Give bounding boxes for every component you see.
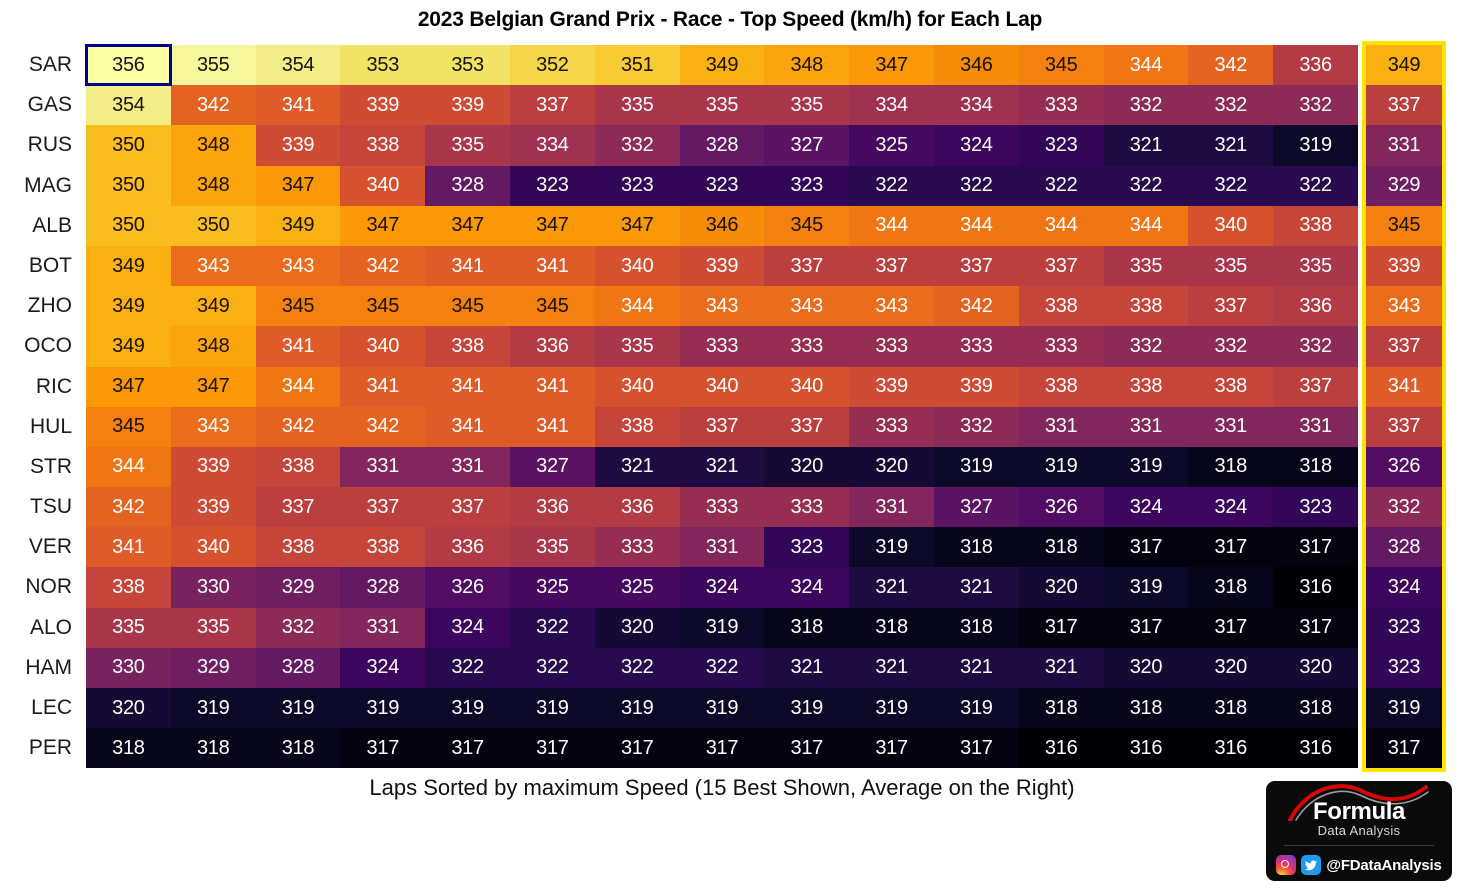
row-label: MAG	[0, 166, 86, 206]
heatmap-cell: 335	[425, 125, 510, 165]
heatmap-cell: 339	[934, 367, 1019, 407]
heatmap-cell: 343	[171, 246, 256, 286]
heatmap-cell: 337	[1019, 246, 1104, 286]
heatmap-cell: 323	[1273, 487, 1358, 527]
heatmap-cell: 344	[1019, 206, 1104, 246]
heatmap-cell: 330	[171, 567, 256, 607]
heatmap-cell: 335	[171, 608, 256, 648]
heatmap-cell: 344	[595, 286, 680, 326]
row-label: VER	[0, 527, 86, 567]
heatmap-cell: 342	[256, 407, 341, 447]
heatmap-cell: 322	[510, 608, 595, 648]
heatmap-cell: 340	[764, 367, 849, 407]
heatmap-cell: 317	[1104, 527, 1189, 567]
heatmap-row: 3473473443413413413403403403393393383383…	[86, 367, 1358, 407]
heatmap-cell: 344	[256, 367, 341, 407]
heatmap-cell: 340	[340, 326, 425, 366]
heatmap-cell: 332	[1104, 326, 1189, 366]
heatmap-cell: 347	[256, 166, 341, 206]
heatmap-cell: 332	[1104, 85, 1189, 125]
heatmap-cell: 344	[1104, 45, 1189, 85]
heatmap-cell: 338	[1019, 367, 1104, 407]
heatmap-row: 3383303293283263253253243243213213203193…	[86, 567, 1358, 607]
heatmap-cell: 318	[171, 728, 256, 768]
heatmap-cell: 324	[934, 125, 1019, 165]
row-label: NOR	[0, 567, 86, 607]
heatmap-cell: 318	[1019, 527, 1104, 567]
heatmap-cell: 331	[1188, 407, 1273, 447]
heatmap-body: SARGASRUSMAGALBBOTZHOOCORICHULSTRTSUVERN…	[0, 45, 1460, 768]
heatmap-cell: 343	[764, 286, 849, 326]
heatmap-cell: 318	[1273, 688, 1358, 728]
heatmap-cell: 352	[510, 45, 595, 85]
heatmap-cell: 339	[171, 447, 256, 487]
heatmap-row: 3503483393383353343323283273253243233213…	[86, 125, 1358, 165]
heatmap-cell: 321	[764, 648, 849, 688]
row-label-axis: SARGASRUSMAGALBBOTZHOOCORICHULSTRTSUVERN…	[0, 45, 86, 768]
heatmap-row: 3453433423423413413383373373333323313313…	[86, 407, 1358, 447]
heatmap-cell: 339	[425, 85, 510, 125]
heatmap-cell: 319	[425, 688, 510, 728]
heatmap-cell: 331	[340, 608, 425, 648]
heatmap-cell: 347	[340, 206, 425, 246]
average-cell: 345	[1366, 206, 1442, 246]
heatmap-cell: 319	[595, 688, 680, 728]
heatmap-cell: 344	[1104, 206, 1189, 246]
heatmap-cell: 341	[425, 246, 510, 286]
heatmap-cell: 318	[934, 527, 1019, 567]
heatmap-cell: 338	[1019, 286, 1104, 326]
heatmap-cell: 340	[680, 367, 765, 407]
average-cell: 323	[1366, 608, 1442, 648]
heatmap-cell: 321	[934, 648, 1019, 688]
heatmap-cell: 342	[1188, 45, 1273, 85]
average-cell: 341	[1366, 367, 1442, 407]
row-label: SAR	[0, 45, 86, 85]
heatmap-cell: 321	[595, 447, 680, 487]
heatmap-cell: 332	[1273, 326, 1358, 366]
heatmap-cell: 317	[340, 728, 425, 768]
heatmap-row: 3423393373373373363363333333313273263243…	[86, 487, 1358, 527]
heatmap-cell: 322	[595, 648, 680, 688]
heatmap-cell: 332	[595, 125, 680, 165]
heatmap-cell: 337	[764, 246, 849, 286]
heatmap-cell: 335	[1188, 246, 1273, 286]
heatmap-cell: 338	[340, 527, 425, 567]
heatmap-cell: 341	[256, 326, 341, 366]
heatmap-cell: 319	[256, 688, 341, 728]
logo-handle: @FDataAnalysis	[1326, 857, 1441, 874]
heatmap-cell: 341	[86, 527, 171, 567]
heatmap-cell: 324	[425, 608, 510, 648]
heatmap-cell: 317	[510, 728, 595, 768]
heatmap-cell: 335	[510, 527, 595, 567]
heatmap-cell: 332	[934, 407, 1019, 447]
average-cell: 329	[1366, 166, 1442, 206]
heatmap-cell: 340	[340, 166, 425, 206]
heatmap-cell: 341	[425, 407, 510, 447]
heatmap-cell: 317	[849, 728, 934, 768]
heatmap-cell: 333	[934, 326, 1019, 366]
heatmap-cell: 321	[680, 447, 765, 487]
x-axis-caption: Laps Sorted by maximum Speed (15 Best Sh…	[86, 775, 1358, 801]
heatmap-cell: 316	[1273, 567, 1358, 607]
heatmap-cell: 348	[171, 125, 256, 165]
heatmap-cell: 331	[849, 487, 934, 527]
brand-logo-card: Formula Data Analysis @FDataAnalysis	[1266, 781, 1452, 881]
row-label: PER	[0, 728, 86, 768]
heatmap-cell: 322	[425, 648, 510, 688]
heatmap-cell: 317	[680, 728, 765, 768]
average-column: 3493373313293453393433373413373263323283…	[1366, 45, 1442, 768]
heatmap-cell: 347	[86, 367, 171, 407]
heatmap-cell: 319	[934, 447, 1019, 487]
heatmap-cell: 322	[510, 648, 595, 688]
heatmap-cell: 331	[340, 447, 425, 487]
heatmap-cell: 337	[425, 487, 510, 527]
heatmap-cell: 337	[849, 246, 934, 286]
heatmap-cell: 338	[340, 125, 425, 165]
heatmap-row: 3413403383383363353333313233193183183173…	[86, 527, 1358, 567]
heatmap-cell: 343	[171, 407, 256, 447]
heatmap-cell: 342	[86, 487, 171, 527]
heatmap-cell: 322	[1188, 166, 1273, 206]
heatmap-cell: 320	[764, 447, 849, 487]
heatmap-cell: 318	[1188, 688, 1273, 728]
logo-divider	[1284, 845, 1434, 846]
heatmap-cell: 322	[1273, 166, 1358, 206]
heatmap-cell: 320	[1019, 567, 1104, 607]
heatmap-row: 3183183183173173173173173173173173163163…	[86, 728, 1358, 768]
heatmap-row: 3563553543533533523513493483473463453443…	[86, 45, 1358, 85]
heatmap-cell: 356	[86, 45, 171, 85]
heatmap-row: 3503503493473473473473463453443443443443…	[86, 206, 1358, 246]
heatmap-cell: 340	[595, 367, 680, 407]
row-label: STR	[0, 447, 86, 487]
heatmap-cell: 349	[680, 45, 765, 85]
heatmap-cell: 337	[764, 407, 849, 447]
heatmap-cell: 349	[86, 246, 171, 286]
heatmap-cell: 333	[680, 487, 765, 527]
heatmap-cell: 340	[171, 527, 256, 567]
heatmap-cell: 343	[256, 246, 341, 286]
heatmap-cell: 333	[595, 527, 680, 567]
heatmap-cell: 333	[764, 487, 849, 527]
heatmap-cell: 335	[86, 608, 171, 648]
heatmap-cell: 317	[1188, 608, 1273, 648]
heatmap-cell: 318	[86, 728, 171, 768]
heatmap-cell: 335	[1104, 246, 1189, 286]
heatmap-cell: 332	[1273, 85, 1358, 125]
heatmap-cell: 324	[340, 648, 425, 688]
average-cell: 331	[1366, 125, 1442, 165]
heatmap-cell: 318	[1188, 567, 1273, 607]
heatmap-cell: 325	[849, 125, 934, 165]
average-cell: 343	[1366, 286, 1442, 326]
heatmap-cell: 318	[1188, 447, 1273, 487]
heatmap-cell: 333	[849, 326, 934, 366]
heatmap-cell: 323	[510, 166, 595, 206]
heatmap-cell: 350	[86, 166, 171, 206]
heatmap-cell: 332	[1188, 85, 1273, 125]
heatmap-cell: 342	[171, 85, 256, 125]
heatmap-cell: 322	[1104, 166, 1189, 206]
heatmap-cell: 321	[1188, 125, 1273, 165]
heatmap-cell: 353	[425, 45, 510, 85]
heatmap-cell: 337	[256, 487, 341, 527]
heatmap-cell: 327	[510, 447, 595, 487]
heatmap-cell: 324	[680, 567, 765, 607]
heatmap-cell: 323	[1019, 125, 1104, 165]
heatmap-cell: 318	[1019, 688, 1104, 728]
heatmap-cell: 335	[680, 85, 765, 125]
heatmap-cell: 349	[86, 286, 171, 326]
heatmap-cell: 337	[934, 246, 1019, 286]
heatmap-row: 3493483413403383363353333333333333333323…	[86, 326, 1358, 366]
logo-top: Formula Data Analysis	[1266, 781, 1452, 847]
heatmap-cell: 316	[1104, 728, 1189, 768]
heatmap-cell: 331	[425, 447, 510, 487]
heatmap-cell: 333	[1019, 85, 1104, 125]
heatmap-cell: 321	[849, 567, 934, 607]
heatmap-cell: 329	[171, 648, 256, 688]
heatmap-matrix: 3563553543533533523513493483473463453443…	[86, 45, 1358, 768]
row-label: TSU	[0, 487, 86, 527]
heatmap-cell: 329	[256, 567, 341, 607]
logo-brand-name: Formula	[1266, 800, 1452, 824]
heatmap-cell: 330	[86, 648, 171, 688]
heatmap-cell: 321	[934, 567, 1019, 607]
heatmap-cell: 347	[849, 45, 934, 85]
instagram-icon[interactable]	[1276, 855, 1296, 875]
average-cell: 328	[1366, 527, 1442, 567]
heatmap-cell: 317	[764, 728, 849, 768]
average-cell: 319	[1366, 688, 1442, 728]
heatmap-cell: 327	[764, 125, 849, 165]
heatmap-cell: 331	[1273, 407, 1358, 447]
heatmap-row: 3493493453453453453443433433433423383383…	[86, 286, 1358, 326]
row-label: RUS	[0, 125, 86, 165]
heatmap-cell: 319	[1104, 447, 1189, 487]
heatmap-cell: 350	[86, 206, 171, 246]
heatmap-cell: 336	[1273, 45, 1358, 85]
heatmap-cell: 335	[1273, 246, 1358, 286]
heatmap-cell: 324	[764, 567, 849, 607]
average-cell: 324	[1366, 567, 1442, 607]
heatmap-cell: 318	[934, 608, 1019, 648]
average-cell: 332	[1366, 487, 1442, 527]
heatmap-cell: 338	[425, 326, 510, 366]
heatmap-cell: 354	[86, 85, 171, 125]
twitter-icon[interactable]	[1301, 855, 1321, 875]
average-cell: 326	[1366, 447, 1442, 487]
heatmap-cell: 332	[256, 608, 341, 648]
heatmap-cell: 355	[171, 45, 256, 85]
heatmap-cell: 317	[1273, 527, 1358, 567]
heatmap-cell: 319	[340, 688, 425, 728]
heatmap-cell: 326	[1019, 487, 1104, 527]
average-cell: 349	[1366, 45, 1442, 85]
heatmap-cell: 325	[510, 567, 595, 607]
heatmap-cell: 349	[256, 206, 341, 246]
heatmap-cell: 320	[86, 688, 171, 728]
heatmap-row: 3353353323313243223203193183183183173173…	[86, 608, 1358, 648]
heatmap-cell: 339	[680, 246, 765, 286]
heatmap-cell: 321	[849, 648, 934, 688]
heatmap-cell: 341	[425, 367, 510, 407]
heatmap-row: 3203193193193193193193193193193193183183…	[86, 688, 1358, 728]
heatmap-cell: 328	[425, 166, 510, 206]
heatmap-cell: 318	[1104, 688, 1189, 728]
average-cell: 339	[1366, 246, 1442, 286]
heatmap-cell: 353	[340, 45, 425, 85]
heatmap-cell: 321	[1019, 648, 1104, 688]
heatmap-cell: 344	[86, 447, 171, 487]
heatmap-cell: 324	[1104, 487, 1189, 527]
heatmap-row: 3543423413393393373353353353343343333323…	[86, 85, 1358, 125]
heatmap-cell: 316	[1273, 728, 1358, 768]
heatmap-cell: 341	[256, 85, 341, 125]
heatmap-cell: 351	[595, 45, 680, 85]
heatmap-cell: 319	[171, 688, 256, 728]
average-cell: 337	[1366, 326, 1442, 366]
heatmap-cell: 347	[171, 367, 256, 407]
heatmap-row: 3443393383313313273213213203203193193193…	[86, 447, 1358, 487]
row-label: HUL	[0, 407, 86, 447]
heatmap-cell: 317	[1188, 527, 1273, 567]
row-label: ZHO	[0, 286, 86, 326]
heatmap-cell: 337	[1273, 367, 1358, 407]
heatmap-cell: 319	[1019, 447, 1104, 487]
heatmap-cell: 345	[510, 286, 595, 326]
heatmap-cell: 336	[595, 487, 680, 527]
row-label: LEC	[0, 688, 86, 728]
heatmap-cell: 350	[171, 206, 256, 246]
heatmap-cell: 322	[849, 166, 934, 206]
heatmap-cell: 338	[256, 527, 341, 567]
row-label: BOT	[0, 246, 86, 286]
heatmap-cell: 336	[425, 527, 510, 567]
heatmap-cell: 337	[680, 407, 765, 447]
row-label: ALB	[0, 206, 86, 246]
heatmap-cell: 319	[1273, 125, 1358, 165]
logo-brand-tagline: Data Analysis	[1266, 824, 1452, 838]
heatmap-cell: 319	[849, 688, 934, 728]
heatmap-cell: 354	[256, 45, 341, 85]
heatmap-cell: 317	[1104, 608, 1189, 648]
heatmap-cell: 339	[340, 85, 425, 125]
heatmap-cell: 341	[510, 246, 595, 286]
heatmap-cell: 350	[86, 125, 171, 165]
heatmap-cell: 328	[340, 567, 425, 607]
heatmap-cell: 346	[680, 206, 765, 246]
heatmap-cell: 316	[1188, 728, 1273, 768]
heatmap-cell: 345	[425, 286, 510, 326]
heatmap-cell: 321	[1104, 125, 1189, 165]
heatmap-cell: 336	[510, 326, 595, 366]
heatmap-cell: 320	[595, 608, 680, 648]
heatmap-cell: 320	[1188, 648, 1273, 688]
heatmap-cell: 333	[764, 326, 849, 366]
heatmap-cell: 334	[934, 85, 1019, 125]
heatmap-cell: 336	[1273, 286, 1358, 326]
row-label: GAS	[0, 85, 86, 125]
heatmap-cell: 333	[1019, 326, 1104, 366]
heatmap-row: 3493433433423413413403393373373373373353…	[86, 246, 1358, 286]
heatmap-cell: 332	[1188, 326, 1273, 366]
heatmap-cell: 340	[595, 246, 680, 286]
heatmap-cell: 345	[340, 286, 425, 326]
heatmap-cell: 343	[849, 286, 934, 326]
heatmap-cell: 327	[934, 487, 1019, 527]
heatmap-cell: 339	[171, 487, 256, 527]
heatmap-cell: 341	[340, 367, 425, 407]
heatmap-cell: 334	[510, 125, 595, 165]
heatmap-cell: 318	[256, 728, 341, 768]
heatmap-cell: 318	[1273, 447, 1358, 487]
heatmap-cell: 331	[1019, 407, 1104, 447]
average-cell: 337	[1366, 407, 1442, 447]
heatmap-cell: 320	[1104, 648, 1189, 688]
heatmap-cell: 345	[86, 407, 171, 447]
row-label: ALO	[0, 608, 86, 648]
heatmap-cell: 338	[595, 407, 680, 447]
heatmap-cell: 331	[680, 527, 765, 567]
heatmap-cell: 320	[1273, 648, 1358, 688]
heatmap-cell: 333	[680, 326, 765, 366]
heatmap-cell: 346	[934, 45, 1019, 85]
heatmap-cell: 342	[934, 286, 1019, 326]
heatmap-cell: 319	[764, 688, 849, 728]
heatmap-cell: 342	[340, 407, 425, 447]
heatmap-cell: 349	[171, 286, 256, 326]
heatmap-cell: 338	[256, 447, 341, 487]
heatmap-row: 3503483473403283233233233233223223223223…	[86, 166, 1358, 206]
heatmap-cell: 341	[510, 367, 595, 407]
heatmap-cell: 316	[1019, 728, 1104, 768]
heatmap-cell: 317	[934, 728, 1019, 768]
heatmap-cell: 323	[680, 166, 765, 206]
logo-social-row: @FDataAnalysis	[1266, 849, 1452, 881]
average-cell: 337	[1366, 85, 1442, 125]
heatmap-cell: 322	[680, 648, 765, 688]
heatmap-cell: 318	[849, 608, 934, 648]
heatmap-cell: 342	[340, 246, 425, 286]
heatmap-cell: 349	[86, 326, 171, 366]
heatmap-cell: 339	[849, 367, 934, 407]
heatmap-row: 3303293283243223223223223213213213213203…	[86, 648, 1358, 688]
heatmap-cell: 319	[680, 688, 765, 728]
heatmap-cell: 335	[595, 326, 680, 366]
heatmap-cell: 337	[340, 487, 425, 527]
heatmap-cell: 347	[425, 206, 510, 246]
heatmap-cell: 317	[1273, 608, 1358, 648]
heatmap-cell: 348	[171, 166, 256, 206]
heatmap-cell: 338	[86, 567, 171, 607]
average-cell: 317	[1366, 728, 1442, 768]
heatmap-cell: 347	[510, 206, 595, 246]
heatmap-cell: 337	[1188, 286, 1273, 326]
heatmap-cell: 339	[256, 125, 341, 165]
heatmap-cell: 322	[934, 166, 1019, 206]
heatmap-cell: 318	[764, 608, 849, 648]
heatmap-cell: 319	[680, 608, 765, 648]
heatmap-cell: 335	[595, 85, 680, 125]
heatmap-cell: 338	[1104, 367, 1189, 407]
heatmap-cell: 347	[595, 206, 680, 246]
heatmap-cell: 320	[849, 447, 934, 487]
row-label: HAM	[0, 648, 86, 688]
